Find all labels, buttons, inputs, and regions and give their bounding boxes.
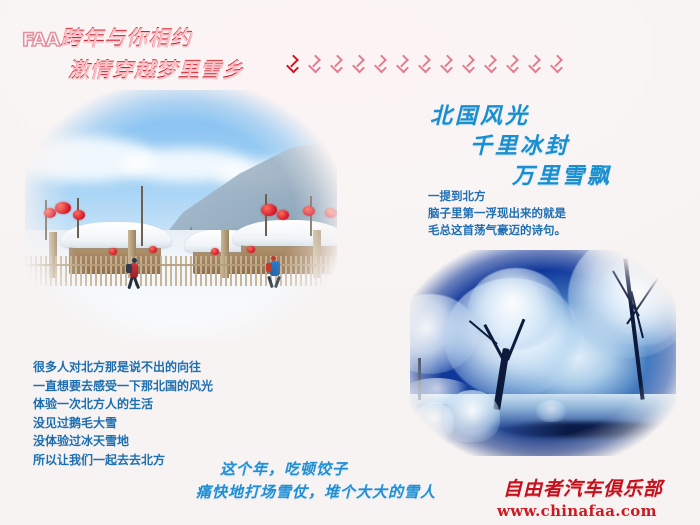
red-lantern [73, 210, 85, 220]
body-line-4: 没见过鹅毛大雪 [33, 414, 213, 433]
utility-pole [141, 186, 143, 246]
red-lantern [303, 206, 315, 216]
red-lantern [325, 208, 337, 218]
club-website-url[interactable]: www.chinafaa.com [497, 502, 687, 520]
closing-line-2: 痛快地打场雪仗，堆个大大的雪人 [196, 481, 436, 502]
club-name: 自由者汽车俱乐部 [503, 474, 687, 501]
title-line-1-text: 跨年与你相约 [60, 25, 192, 50]
title-line-1: FAA跨年与你相约 [22, 22, 192, 52]
faa-brand-logo: FAA [22, 29, 59, 51]
photo-rime-trees [410, 250, 676, 456]
red-lantern [247, 246, 255, 253]
red-lantern [109, 248, 117, 255]
intro-line-3: 毛总这首荡气豪迈的诗句。 [428, 222, 566, 239]
headline-line-1: 北国风光 [430, 98, 530, 130]
title-block: FAA跨年与你相约 激情穿越梦里雪乡 [0, 10, 700, 80]
photo-snow-village [25, 90, 337, 340]
title-line-2: 激情穿越梦里雪乡 [68, 54, 244, 84]
intro-paragraph: 一提到北方 脑子里第一浮现出来的就是 毛总这首荡气豪迈的诗句。 [428, 188, 566, 239]
body-line-6: 所以让我们一起去去北方 [33, 451, 213, 470]
walking-person-blue [265, 256, 287, 294]
chevron-right-icon [308, 56, 319, 71]
dark-shoreline [500, 422, 670, 438]
intro-line-2: 脑子里第一浮现出来的就是 [428, 205, 566, 222]
closing-line-1: 这个年，吃顿饺子 [220, 458, 348, 479]
body-line-1: 很多人对北方那是说不出的向往 [33, 358, 213, 377]
walking-person-red [125, 258, 145, 294]
intro-line-1: 一提到北方 [428, 188, 566, 205]
frosted-bush [410, 378, 470, 404]
body-line-2: 一直想要去感受一下那北国的风光 [33, 377, 213, 396]
backpack [266, 263, 272, 272]
chevron-right-icon [352, 56, 363, 71]
chevron-right-icon [550, 56, 561, 71]
chevron-right-icon [396, 56, 407, 71]
chevron-right-icon [418, 56, 429, 71]
chevron-right-icon [440, 56, 451, 71]
person-leg [133, 277, 140, 289]
red-lantern [149, 246, 157, 253]
chevron-trail [286, 56, 561, 71]
body-paragraph: 很多人对北方那是说不出的向往 一直想要去感受一下那北国的风光 体验一次北方人的生… [33, 358, 213, 469]
red-lantern [44, 208, 56, 218]
lantern-pole [310, 196, 312, 236]
chevron-right-icon [330, 56, 341, 71]
chevron-right-icon [374, 56, 385, 71]
red-lantern [261, 204, 277, 216]
red-lantern [277, 210, 289, 220]
frosted-bush [536, 400, 566, 422]
body-line-3: 体验一次北方人的生活 [33, 395, 213, 414]
red-lantern [55, 202, 71, 214]
headline-line-3: 万里雪飘 [512, 158, 612, 190]
person-leg [267, 276, 274, 288]
club-logo-block: 自由者汽车俱乐部 www.chinafaa.com [497, 474, 687, 520]
chevron-right-icon [528, 56, 539, 71]
headline-line-2: 千里冰封 [470, 128, 570, 160]
chevron-right-icon [484, 56, 495, 71]
chevron-right-icon [286, 56, 297, 71]
chevron-right-icon [506, 56, 517, 71]
person-leg [274, 276, 281, 288]
wooden-fence [25, 256, 337, 286]
frosted-bush [414, 402, 454, 442]
snow-roof [233, 220, 337, 246]
title-line-2-text: 激情穿越梦里雪乡 [68, 57, 244, 82]
body-line-5: 没体验过冰天雪地 [33, 432, 213, 451]
red-lantern [211, 248, 219, 255]
lantern-pole [45, 200, 47, 240]
poster-canvas: FAA跨年与你相约 激情穿越梦里雪乡 [0, 0, 700, 525]
chevron-right-icon [462, 56, 473, 71]
backpack [126, 264, 132, 273]
